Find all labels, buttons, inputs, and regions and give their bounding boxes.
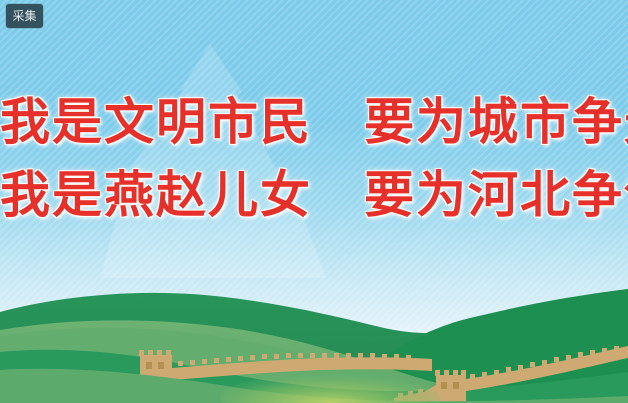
- banner-image: 我是文明市民 要为城市争光 我是燕赵儿女 要为河北争气 采集: [0, 0, 628, 403]
- capture-button[interactable]: 采集: [6, 4, 43, 28]
- headline-text: 我是文明市民 要为城市争光 我是燕赵儿女 要为河北争气: [0, 96, 628, 222]
- headline-line-2: 我是燕赵儿女 要为河北争气: [0, 169, 628, 222]
- headline-line-1: 我是文明市民 要为城市争光: [0, 96, 628, 149]
